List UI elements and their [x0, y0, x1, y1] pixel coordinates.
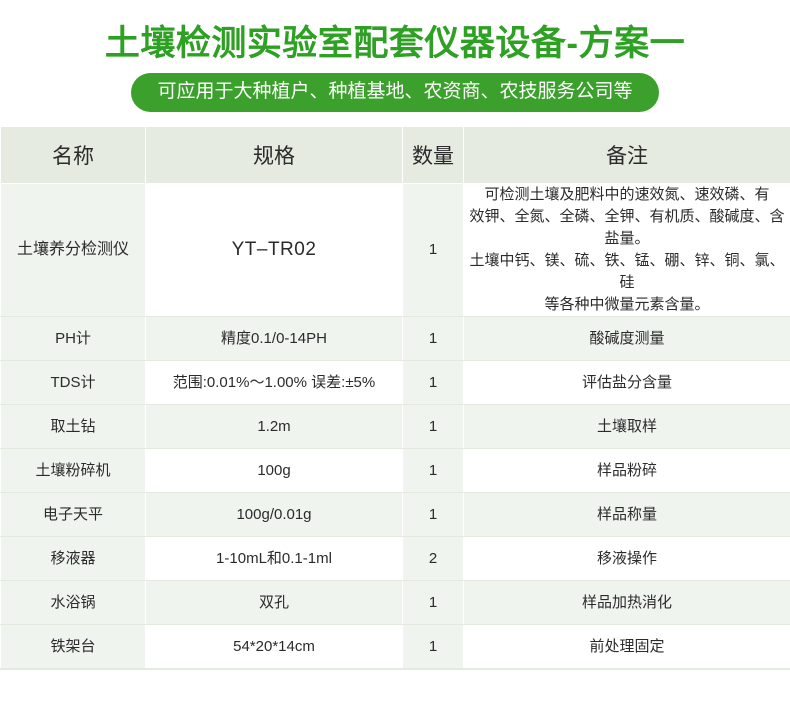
cell-note: 样品称量 — [464, 493, 790, 537]
table-row: 土壤粉碎机 100g 1 样品粉碎 — [1, 449, 790, 493]
column-header-spec: 规格 — [146, 127, 403, 184]
note-line: 效钾、全氮、全磷、全钾、有机质、酸碱度、含 — [464, 206, 790, 228]
note-line: 可检测土壤及肥料中的速效氮、速效磷、有 — [464, 184, 790, 206]
table-row: 移液器 1-10mL和0.1-1ml 2 移液操作 — [1, 537, 790, 581]
cell-quantity: 1 — [403, 449, 464, 493]
column-header-qty: 数量 — [403, 127, 464, 184]
cell-spec: YT–TR02 — [146, 184, 403, 317]
table-bottom-border — [0, 669, 790, 670]
table-body: 土壤养分检测仪 YT–TR02 1 可检测土壤及肥料中的速效氮、速效磷、有 效钾… — [1, 184, 790, 669]
cell-note: 土壤取样 — [464, 405, 790, 449]
note-line: 盐量。 — [464, 228, 790, 250]
cell-note: 样品粉碎 — [464, 449, 790, 493]
cell-quantity: 1 — [403, 625, 464, 669]
cell-note: 样品加热消化 — [464, 581, 790, 625]
column-header-name: 名称 — [1, 127, 146, 184]
cell-spec: 双孔 — [146, 581, 403, 625]
subtitle-container: 可应用于大种植户、种植基地、农资商、农技服务公司等 — [0, 73, 790, 112]
table-row: 水浴锅 双孔 1 样品加热消化 — [1, 581, 790, 625]
cell-name: 铁架台 — [1, 625, 146, 669]
cell-note: 酸碱度测量 — [464, 317, 790, 361]
table-row: 铁架台 54*20*14cm 1 前处理固定 — [1, 625, 790, 669]
table-row: TDS计 范围:0.01%～1.00% 误差:±5% 1 评估盐分含量 — [1, 361, 790, 405]
cell-note: 可检测土壤及肥料中的速效氮、速效磷、有 效钾、全氮、全磷、全钾、有机质、酸碱度、… — [464, 184, 790, 317]
subtitle-badge: 可应用于大种植户、种植基地、农资商、农技服务公司等 — [131, 73, 658, 112]
product-spec-page: 土壤检测实验室配套仪器设备-方案一 可应用于大种植户、种植基地、农资商、农技服务… — [0, 0, 790, 717]
page-header: 土壤检测实验室配套仪器设备-方案一 可应用于大种植户、种植基地、农资商、农技服务… — [0, 0, 790, 112]
cell-quantity: 1 — [403, 184, 464, 317]
cell-name: 移液器 — [1, 537, 146, 581]
table-row: 土壤养分检测仪 YT–TR02 1 可检测土壤及肥料中的速效氮、速效磷、有 效钾… — [1, 184, 790, 317]
cell-spec: 范围:0.01%～1.00% 误差:±5% — [146, 361, 403, 405]
note-line: 土壤中钙、镁、硫、铁、锰、硼、锌、铜、氯、硅 — [464, 250, 790, 294]
cell-spec: 精度0.1/0-14PH — [146, 317, 403, 361]
cell-note: 前处理固定 — [464, 625, 790, 669]
cell-spec: 100g/0.01g — [146, 493, 403, 537]
cell-note: 评估盐分含量 — [464, 361, 790, 405]
cell-name: 取土钻 — [1, 405, 146, 449]
table-row: PH计 精度0.1/0-14PH 1 酸碱度测量 — [1, 317, 790, 361]
cell-spec: 1.2m — [146, 405, 403, 449]
cell-quantity: 1 — [403, 361, 464, 405]
cell-spec: 1-10mL和0.1-1ml — [146, 537, 403, 581]
cell-name: 土壤养分检测仪 — [1, 184, 146, 317]
table-header-row: 名称 规格 数量 备注 — [1, 127, 790, 184]
cell-quantity: 2 — [403, 537, 464, 581]
cell-name: TDS计 — [1, 361, 146, 405]
cell-name: 土壤粉碎机 — [1, 449, 146, 493]
table-header: 名称 规格 数量 备注 — [1, 127, 790, 184]
cell-quantity: 1 — [403, 317, 464, 361]
column-header-note: 备注 — [464, 127, 790, 184]
table-row: 电子天平 100g/0.01g 1 样品称量 — [1, 493, 790, 537]
cell-quantity: 1 — [403, 493, 464, 537]
cell-name: 水浴锅 — [1, 581, 146, 625]
spec-table-container: 名称 规格 数量 备注 土壤养分检测仪 YT–TR02 1 可检测土壤及肥料中的… — [0, 126, 790, 670]
cell-name: PH计 — [1, 317, 146, 361]
table-row: 取土钻 1.2m 1 土壤取样 — [1, 405, 790, 449]
cell-note: 移液操作 — [464, 537, 790, 581]
cell-quantity: 1 — [403, 405, 464, 449]
page-title: 土壤检测实验室配套仪器设备-方案一 — [0, 22, 790, 66]
cell-spec: 100g — [146, 449, 403, 493]
cell-spec: 54*20*14cm — [146, 625, 403, 669]
spec-table: 名称 规格 数量 备注 土壤养分检测仪 YT–TR02 1 可检测土壤及肥料中的… — [0, 126, 790, 669]
cell-quantity: 1 — [403, 581, 464, 625]
cell-name: 电子天平 — [1, 493, 146, 537]
note-line: 等各种中微量元素含量。 — [464, 294, 790, 316]
